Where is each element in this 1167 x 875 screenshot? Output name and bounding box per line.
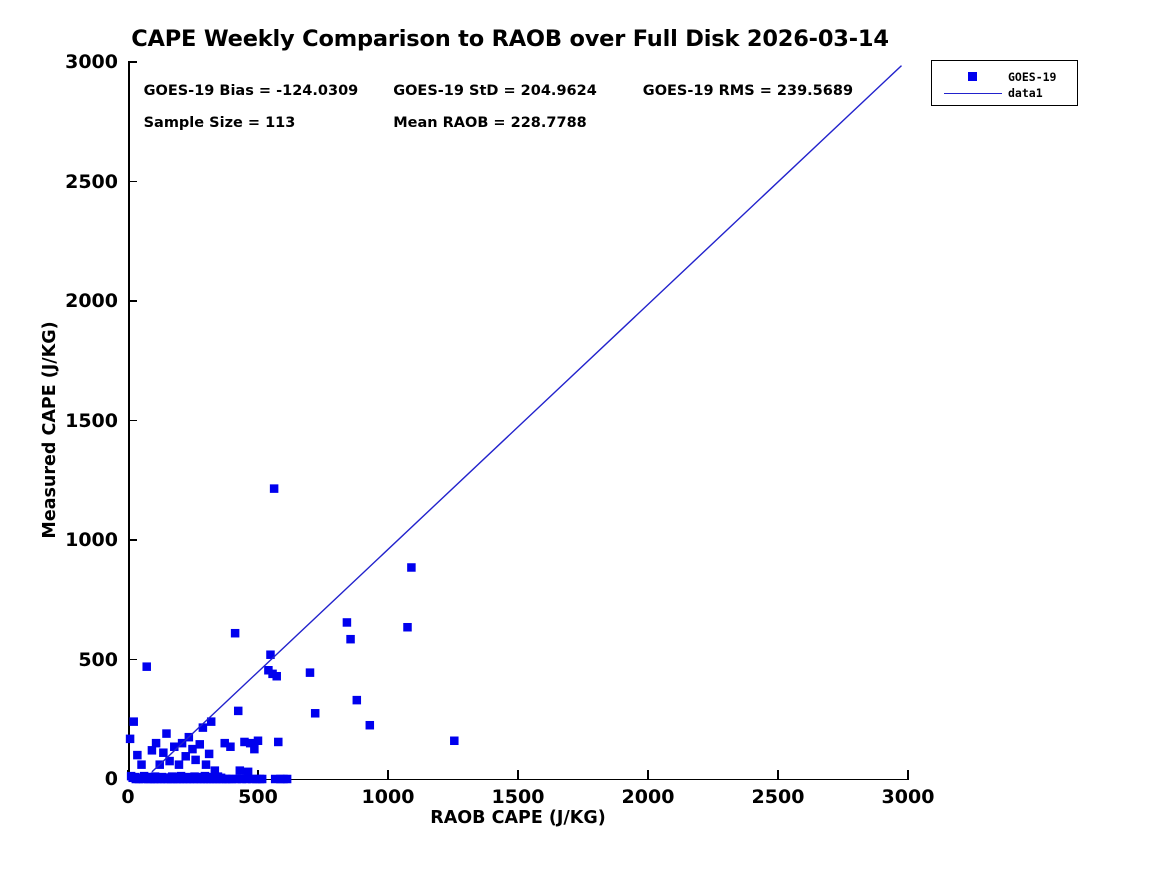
plot-area [128,62,908,779]
x-tick-label: 3000 [838,786,978,808]
data-point [226,742,235,751]
data-point [272,672,281,681]
data-point [231,629,240,638]
chart-canvas: CAPE Weekly Comparison to RAOB over Full… [0,0,1167,875]
data-point [236,766,245,775]
x-tick-label: 500 [188,786,328,808]
data-point [191,756,200,765]
data-point [407,563,416,572]
data-point [142,662,151,671]
x-tick-label: 1500 [448,786,588,808]
data-point [353,696,362,705]
x-axis-title: RAOB CAPE (J/KG) [128,808,908,828]
data-point [170,742,179,751]
data-point [270,484,279,493]
data-point [311,709,320,718]
x-tick-label: 1000 [318,786,458,808]
legend-label-data1: data1 [1008,86,1043,100]
data-point [450,737,459,746]
reference-line [152,66,902,772]
data-point [188,745,197,754]
legend-line-data1-icon [944,93,1002,94]
stat-mean-raob: Mean RAOB = 228.7788 [393,115,587,131]
data-point [274,738,283,747]
stat-sample-size: Sample Size = 113 [144,115,296,131]
data-point [159,748,168,757]
data-point [403,623,412,632]
legend-label-goes19: GOES-19 [1008,70,1056,84]
data-point [258,775,267,784]
data-point [133,751,142,760]
data-point [346,635,355,644]
stat-std: GOES-19 StD = 204.9624 [393,83,597,99]
data-point [234,707,243,716]
data-point [196,740,205,749]
data-point [366,721,375,730]
data-point [254,737,263,746]
x-tick-label: 2500 [708,786,848,808]
data-point [137,760,146,769]
stat-rms: GOES-19 RMS = 239.5689 [643,83,853,99]
data-point [202,760,211,769]
data-point [152,739,161,748]
x-tick-label: 2000 [578,786,718,808]
legend: GOES-19 data1 [931,60,1078,106]
data-point [343,618,352,627]
legend-marker-goes19-icon [968,72,977,81]
data-point [162,729,171,738]
x-tick-label: 0 [58,786,198,808]
page-title: CAPE Weekly Comparison to RAOB over Full… [0,26,1020,52]
data-point [306,668,315,677]
data-point [129,717,138,726]
stat-bias: GOES-19 Bias = -124.0309 [144,83,359,99]
data-point [205,750,214,759]
data-point [283,775,292,784]
y-tick-label: 3000 [0,51,118,73]
data-point [126,735,135,744]
data-point [175,760,184,769]
data-layer [128,62,908,779]
y-axis-title: Measured CAPE (J/KG) [40,130,60,730]
data-point [250,745,258,754]
